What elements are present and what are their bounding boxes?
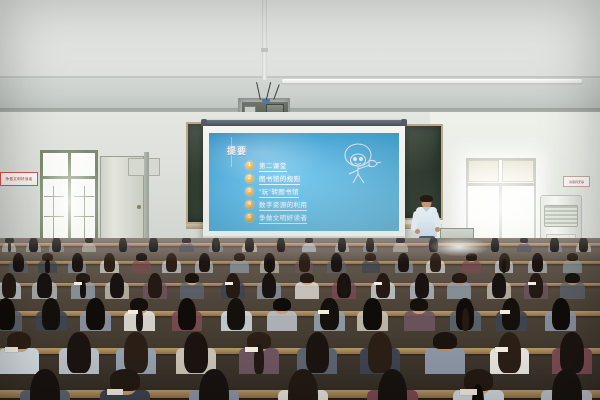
student-hair: [262, 273, 276, 298]
student-hair: [552, 298, 570, 330]
student-hair: [2, 273, 16, 298]
student-hair: [0, 298, 15, 330]
conduit-joint: [261, 48, 268, 52]
student-hair: [306, 332, 329, 373]
student-hair: [42, 298, 60, 330]
lecture-hall-photo: 争做文明好读者 请保持安静 提要 1 第二课堂 2 图书馆的规则 3: [0, 0, 600, 400]
notebook-on-desk: [528, 282, 536, 285]
student-hair: [529, 273, 543, 298]
air-conditioner-vent: [544, 205, 578, 227]
student-hair: [226, 273, 240, 298]
ceiling-conduit-pipe: [262, 0, 267, 80]
student-ponytail: [341, 280, 347, 298]
student-hair: [67, 332, 90, 373]
student-hair: [124, 332, 147, 373]
student-hair: [498, 332, 521, 373]
lecturer-hair: [420, 195, 433, 202]
audience-top-haze: [0, 238, 600, 262]
notebook-on-desk: [374, 282, 382, 285]
student-ponytail: [462, 308, 469, 331]
student-shoulders: [267, 311, 298, 332]
lecturer-hand-left: [415, 229, 420, 234]
right-window-transom-left: [468, 160, 499, 182]
ceiling-upper-surface: [0, 0, 600, 84]
notebook-on-desk: [225, 282, 233, 285]
notebook-on-desk: [107, 389, 124, 395]
student-shoulders: [132, 260, 150, 272]
notebook-on-desk: [318, 310, 328, 314]
student-shoulders: [180, 282, 204, 298]
wall-sign-right: 请保持安静: [563, 176, 590, 187]
student-hair: [148, 273, 162, 298]
student-hair: [185, 273, 199, 283]
student-hair: [86, 298, 104, 330]
student-hair: [300, 273, 314, 283]
notebook-on-desk: [128, 310, 138, 314]
student-hair: [433, 332, 456, 349]
student-hair: [415, 273, 429, 298]
student-hair: [184, 332, 207, 373]
student-shoulders: [0, 348, 39, 375]
student-hair: [199, 369, 229, 400]
student-hair: [410, 298, 428, 311]
student-hair: [273, 298, 291, 311]
notebook-on-desk: [5, 347, 18, 352]
wall-banner-left: 争做文明好读者: [0, 172, 38, 186]
notebook-on-desk: [495, 347, 508, 352]
notebook-on-desk: [74, 282, 82, 285]
student-hair: [502, 298, 520, 330]
student-shoulders: [295, 282, 319, 298]
student-shoulders: [404, 311, 435, 332]
student-hair: [110, 369, 140, 390]
student-hair: [37, 273, 51, 298]
notebook-on-desk: [500, 310, 510, 314]
student-hair: [492, 273, 506, 298]
fluorescent-tube-shadow: [282, 83, 582, 85]
student-shoulders: [447, 282, 471, 298]
student-shoulders: [563, 260, 581, 272]
student-hair: [110, 273, 124, 298]
student-hair: [30, 369, 60, 400]
student-shoulders: [425, 348, 465, 375]
slide-vignette: [209, 133, 399, 231]
student-hair: [560, 332, 583, 373]
wall-banner-left-text: 争做文明好读者: [4, 175, 35, 184]
student-hair: [227, 298, 245, 330]
student-hair: [320, 298, 338, 330]
audience-seating-area: [0, 238, 600, 400]
student-hair: [565, 273, 579, 283]
notebook-on-desk: [460, 389, 477, 395]
wall-sign-right-text: 请保持安静: [565, 178, 588, 185]
student-hair: [363, 298, 381, 330]
right-window-transom-right: [502, 160, 534, 182]
projected-slide: 提要 1 第二课堂 2 图书馆的规则 3 "玩"转图书馆 4 数字资源的利用 5…: [209, 133, 399, 231]
student-hair: [376, 273, 390, 298]
student-hair: [452, 273, 466, 283]
notebook-on-desk: [245, 347, 258, 352]
student-hair: [178, 298, 196, 330]
student-shoulders: [362, 260, 380, 272]
aisle-daylight-patch: [430, 238, 488, 256]
student-shoulders: [230, 260, 248, 272]
student-hair: [368, 332, 391, 373]
student-shoulders: [462, 260, 480, 272]
student-shoulders: [560, 282, 584, 298]
door-handle[interactable]: [137, 205, 141, 209]
